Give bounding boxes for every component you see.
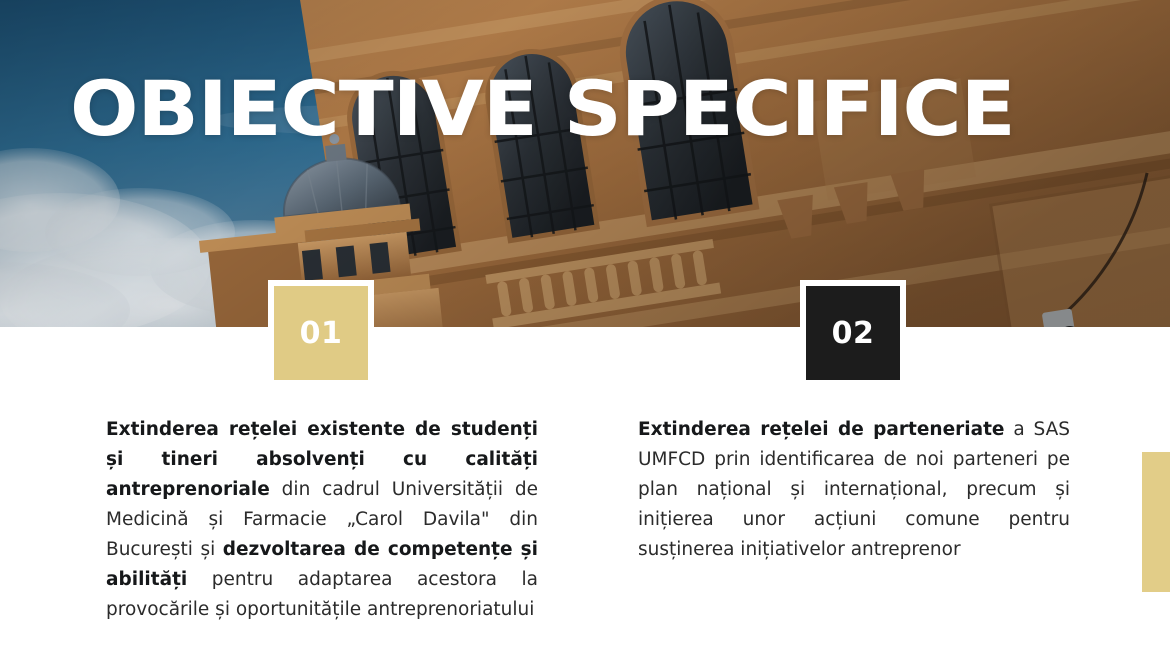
badge-number-label: 01 xyxy=(300,316,343,351)
objective-column-01: Extinderea rețelei existente de studenți… xyxy=(106,415,538,625)
university-building-photo xyxy=(0,0,1170,327)
objective-column-02: Extinderea rețelei de parteneriate a SAS… xyxy=(638,415,1070,565)
objective-text-02: Extinderea rețelei de parteneriate a SAS… xyxy=(638,415,1070,565)
hero-band: OBIECTIVE SPECIFICE xyxy=(0,0,1170,327)
objective-bold-lead-02: Extinderea rețelei de parteneriate xyxy=(638,419,1004,440)
page-title: OBIECTIVE SPECIFICE xyxy=(70,66,1015,152)
objective-badge-01: 01 xyxy=(268,280,374,386)
slide: OBIECTIVE SPECIFICE 01 02 Extinderea reț… xyxy=(0,0,1170,658)
objective-text-01: Extinderea rețelei existente de studenți… xyxy=(106,415,538,625)
objective-body-part1-02: a SAS UMFCD prin identificarea de noi pa… xyxy=(638,419,1070,560)
objective-badge-02: 02 xyxy=(800,280,906,386)
right-accent-bar xyxy=(1142,452,1170,592)
badge-number-label: 02 xyxy=(832,316,875,351)
